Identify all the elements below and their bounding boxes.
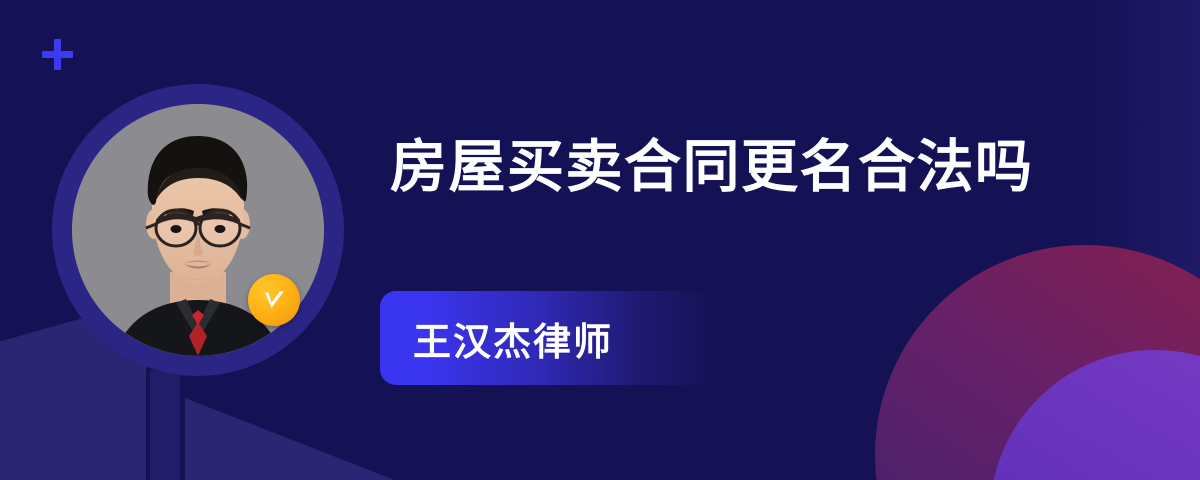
- page-title: 房屋买卖合同更名合法吗: [390, 131, 1034, 203]
- lawyer-qa-banner: 房屋买卖合同更名合法吗 王汉杰律师: [0, 0, 1200, 480]
- avatar: [52, 84, 344, 376]
- content-column: 房屋买卖合同更名合法吗 王汉杰律师: [390, 0, 1170, 480]
- verified-check-icon: [248, 274, 300, 326]
- decor-column-shape: [150, 370, 180, 480]
- plus-icon: [42, 39, 73, 70]
- lawyer-name-label: 王汉杰律师: [413, 311, 613, 366]
- lawyer-name-badge[interactable]: 王汉杰律师: [380, 291, 710, 385]
- decor-triangle-shape: [185, 398, 415, 480]
